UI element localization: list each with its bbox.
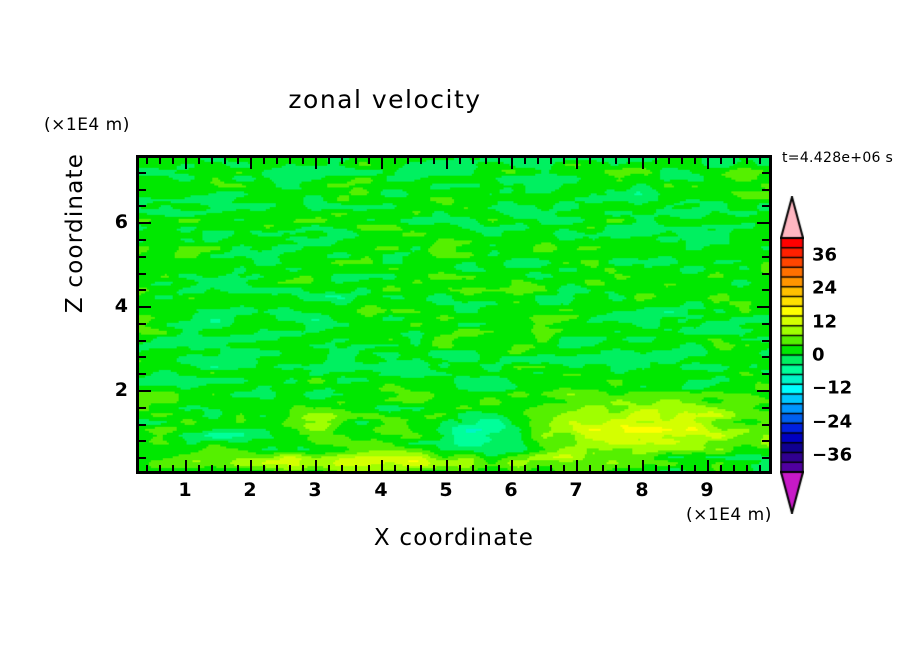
x-minor-tick xyxy=(302,465,304,472)
x-minor-tick xyxy=(524,465,526,472)
x-minor-tick xyxy=(602,157,604,164)
colorbar-tick-label: 24 xyxy=(812,278,837,299)
y-minor-tick xyxy=(139,424,146,426)
x-major-tick xyxy=(707,157,709,169)
y-major-tick xyxy=(139,390,151,392)
x-minor-tick xyxy=(276,157,278,164)
x-minor-tick xyxy=(563,157,565,164)
y-minor-tick xyxy=(762,172,769,174)
x-major-tick xyxy=(381,157,383,169)
y-axis-title: Z coordinate xyxy=(62,133,88,333)
x-minor-tick xyxy=(172,157,174,164)
x-minor-tick xyxy=(746,465,748,472)
x-tick-label: 9 xyxy=(700,479,713,501)
x-minor-tick xyxy=(368,157,370,164)
x-tick-label: 8 xyxy=(635,479,648,501)
x-minor-tick xyxy=(498,465,500,472)
x-minor-tick xyxy=(146,465,148,472)
y-minor-tick xyxy=(762,407,769,409)
x-major-tick xyxy=(185,157,187,169)
x-minor-tick xyxy=(615,157,617,164)
y-major-tick xyxy=(757,390,769,392)
y-minor-tick xyxy=(139,457,146,459)
x-minor-tick xyxy=(341,465,343,472)
x-tick-label: 2 xyxy=(243,479,256,501)
x-minor-tick xyxy=(589,157,591,164)
x-minor-tick xyxy=(159,157,161,164)
y-minor-tick xyxy=(762,239,769,241)
y-axis-unit-label: (×1E4 m) xyxy=(44,115,130,135)
x-minor-tick xyxy=(746,157,748,164)
x-minor-tick xyxy=(355,157,357,164)
x-minor-tick xyxy=(224,465,226,472)
x-minor-tick xyxy=(759,157,761,164)
x-minor-tick xyxy=(615,465,617,472)
x-minor-tick xyxy=(459,465,461,472)
x-major-tick xyxy=(642,157,644,169)
x-minor-tick xyxy=(628,465,630,472)
y-tick-label: 6 xyxy=(98,211,128,233)
y-major-tick xyxy=(139,306,151,308)
x-tick-label: 5 xyxy=(439,479,452,501)
y-minor-tick xyxy=(762,289,769,291)
x-major-tick xyxy=(642,460,644,472)
y-minor-tick xyxy=(762,340,769,342)
x-minor-tick xyxy=(263,465,265,472)
y-minor-tick xyxy=(762,356,769,358)
x-minor-tick xyxy=(681,465,683,472)
y-minor-tick xyxy=(139,205,146,207)
x-major-tick xyxy=(185,460,187,472)
y-minor-tick xyxy=(139,289,146,291)
x-minor-tick xyxy=(550,157,552,164)
y-minor-tick xyxy=(139,172,146,174)
x-minor-tick xyxy=(733,465,735,472)
colorbar-tick-label: −12 xyxy=(812,378,852,399)
y-major-tick xyxy=(757,222,769,224)
x-tick-label: 7 xyxy=(569,479,582,501)
y-major-tick xyxy=(139,222,151,224)
x-minor-tick xyxy=(589,465,591,472)
x-major-tick xyxy=(511,157,513,169)
x-minor-tick xyxy=(237,465,239,472)
x-minor-tick xyxy=(394,465,396,472)
x-minor-tick xyxy=(433,465,435,472)
x-tick-label: 4 xyxy=(374,479,387,501)
y-minor-tick xyxy=(762,424,769,426)
x-minor-tick xyxy=(720,465,722,472)
x-minor-tick xyxy=(420,465,422,472)
y-minor-tick xyxy=(139,356,146,358)
colorbar-canvas xyxy=(780,196,804,514)
x-axis-title: X coordinate xyxy=(136,525,772,551)
y-minor-tick xyxy=(762,189,769,191)
x-minor-tick xyxy=(368,465,370,472)
y-minor-tick xyxy=(139,323,146,325)
x-minor-tick xyxy=(198,465,200,472)
x-minor-tick xyxy=(159,465,161,472)
y-minor-tick xyxy=(762,256,769,258)
x-minor-tick xyxy=(263,157,265,164)
x-minor-tick xyxy=(563,465,565,472)
x-minor-tick xyxy=(394,157,396,164)
x-minor-tick xyxy=(211,157,213,164)
x-minor-tick xyxy=(420,157,422,164)
y-minor-tick xyxy=(762,440,769,442)
x-minor-tick xyxy=(146,157,148,164)
y-minor-tick xyxy=(139,440,146,442)
x-minor-tick xyxy=(681,157,683,164)
x-minor-tick xyxy=(694,157,696,164)
x-minor-tick xyxy=(341,157,343,164)
x-major-tick xyxy=(446,460,448,472)
x-minor-tick xyxy=(472,465,474,472)
x-minor-tick xyxy=(498,157,500,164)
x-minor-tick xyxy=(668,157,670,164)
page-title: zonal velocity xyxy=(0,85,770,114)
x-minor-tick xyxy=(407,465,409,472)
x-minor-tick xyxy=(537,157,539,164)
colorbar-tick-label: −24 xyxy=(812,411,852,432)
x-major-tick xyxy=(250,157,252,169)
x-minor-tick xyxy=(524,157,526,164)
x-minor-tick xyxy=(720,157,722,164)
y-minor-tick xyxy=(139,239,146,241)
x-major-tick xyxy=(381,460,383,472)
x-tick-label: 1 xyxy=(178,479,191,501)
y-minor-tick xyxy=(762,273,769,275)
x-major-tick xyxy=(315,460,317,472)
x-minor-tick xyxy=(289,465,291,472)
contour-plot-area xyxy=(136,155,772,474)
x-minor-tick xyxy=(237,157,239,164)
x-minor-tick xyxy=(485,465,487,472)
y-minor-tick xyxy=(762,205,769,207)
colorbar xyxy=(780,196,804,514)
x-major-tick xyxy=(707,460,709,472)
x-minor-tick xyxy=(472,157,474,164)
y-tick-label: 2 xyxy=(98,379,128,401)
x-minor-tick xyxy=(198,157,200,164)
y-minor-tick xyxy=(139,256,146,258)
x-minor-tick xyxy=(602,465,604,472)
x-minor-tick xyxy=(407,157,409,164)
x-major-tick xyxy=(446,157,448,169)
time-annotation: t=4.428e+06 s xyxy=(782,150,893,166)
x-minor-tick xyxy=(655,465,657,472)
x-minor-tick xyxy=(550,465,552,472)
x-minor-tick xyxy=(655,157,657,164)
y-minor-tick xyxy=(139,189,146,191)
x-major-tick xyxy=(511,460,513,472)
x-minor-tick xyxy=(172,465,174,472)
x-minor-tick xyxy=(537,465,539,472)
x-minor-tick xyxy=(628,157,630,164)
y-major-tick xyxy=(757,306,769,308)
x-minor-tick xyxy=(433,157,435,164)
x-major-tick xyxy=(250,460,252,472)
x-minor-tick xyxy=(224,157,226,164)
y-minor-tick xyxy=(139,273,146,275)
x-minor-tick xyxy=(289,157,291,164)
x-minor-tick xyxy=(302,157,304,164)
x-minor-tick xyxy=(759,465,761,472)
x-minor-tick xyxy=(459,157,461,164)
x-axis-unit-label: (×1E4 m) xyxy=(686,505,772,525)
y-minor-tick xyxy=(139,407,146,409)
y-minor-tick xyxy=(139,373,146,375)
x-minor-tick xyxy=(328,465,330,472)
x-minor-tick xyxy=(211,465,213,472)
x-minor-tick xyxy=(668,465,670,472)
contour-field-canvas xyxy=(139,158,769,471)
y-minor-tick xyxy=(762,373,769,375)
x-major-tick xyxy=(576,460,578,472)
y-minor-tick xyxy=(139,340,146,342)
y-minor-tick xyxy=(762,323,769,325)
y-tick-label: 4 xyxy=(98,295,128,317)
colorbar-tick-label: 36 xyxy=(812,244,837,265)
y-minor-tick xyxy=(762,457,769,459)
x-minor-tick xyxy=(355,465,357,472)
x-minor-tick xyxy=(733,157,735,164)
x-tick-label: 6 xyxy=(504,479,517,501)
colorbar-tick-label: 0 xyxy=(812,345,825,366)
colorbar-tick-label: 12 xyxy=(812,311,837,332)
x-minor-tick xyxy=(485,157,487,164)
x-major-tick xyxy=(315,157,317,169)
x-minor-tick xyxy=(276,465,278,472)
x-tick-label: 3 xyxy=(308,479,321,501)
x-minor-tick xyxy=(328,157,330,164)
colorbar-tick-label: −36 xyxy=(812,445,852,466)
x-major-tick xyxy=(576,157,578,169)
x-minor-tick xyxy=(694,465,696,472)
